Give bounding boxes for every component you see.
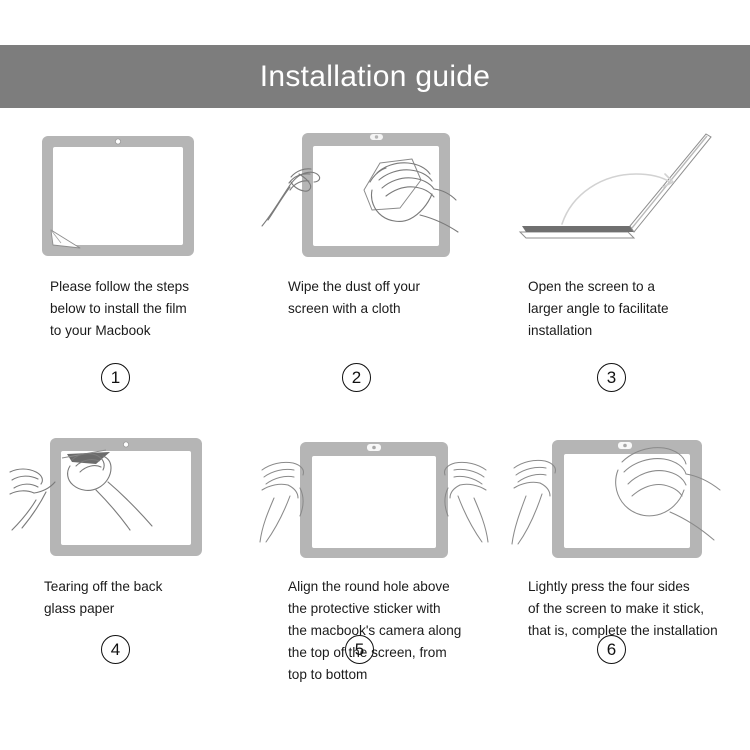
left-hand-icon xyxy=(512,460,556,544)
page-title: Installation guide xyxy=(260,62,491,92)
step-2-number: 2 xyxy=(352,369,361,386)
step-3-number-badge: 3 xyxy=(597,363,626,392)
step-3-illustration xyxy=(510,130,740,262)
step-card-4: Tearing off the back glass paper 4 xyxy=(0,408,250,708)
step-6-illustration xyxy=(510,430,740,562)
step-2-caption: Wipe the dust off your screen with a clo… xyxy=(260,276,490,320)
left-hand-icon xyxy=(260,462,304,542)
step-card-2: Wipe the dust off your screen with a clo… xyxy=(250,108,500,408)
step-4-caption: Tearing off the back glass paper xyxy=(10,576,240,620)
installation-steps-grid: Please follow the steps below to install… xyxy=(0,108,750,750)
step-5-caption: Align the round hole above the protectiv… xyxy=(260,576,490,686)
step-1-number-badge: 1 xyxy=(101,363,130,392)
laptop-open-side-view-icon xyxy=(520,134,711,238)
step-4-number: 4 xyxy=(111,641,120,658)
step-2-number-badge: 2 xyxy=(342,363,371,392)
step-5-number-badge: 5 xyxy=(345,635,374,664)
step-5-number: 5 xyxy=(355,641,364,658)
step-1-number: 1 xyxy=(111,369,120,386)
step-6-number: 6 xyxy=(607,641,616,658)
step-card-3: Open the screen to a larger angle to fac… xyxy=(500,108,750,408)
step-6-number-badge: 6 xyxy=(597,635,626,664)
step-4-illustration xyxy=(10,430,240,562)
step-card-6: Lightly press the four sides of the scre… xyxy=(500,408,750,708)
step-card-5: Align the round hole above the protectiv… xyxy=(250,408,500,708)
step-2-illustration xyxy=(260,130,490,262)
header-banner: Installation guide xyxy=(0,45,750,108)
step-4-number-badge: 4 xyxy=(101,635,130,664)
left-hand-icon xyxy=(10,469,55,530)
step-3-number: 3 xyxy=(607,369,616,386)
step-6-caption: Lightly press the four sides of the scre… xyxy=(510,576,740,642)
step-card-1: Please follow the steps below to install… xyxy=(0,108,250,408)
right-hand-icon xyxy=(444,462,488,542)
step-5-illustration xyxy=(260,430,490,562)
step-1-caption: Please follow the steps below to install… xyxy=(10,276,240,342)
device-frame-icon xyxy=(300,442,448,558)
step-1-illustration xyxy=(10,130,240,262)
device-frame-icon xyxy=(42,136,194,256)
step-3-caption: Open the screen to a larger angle to fac… xyxy=(510,276,740,342)
